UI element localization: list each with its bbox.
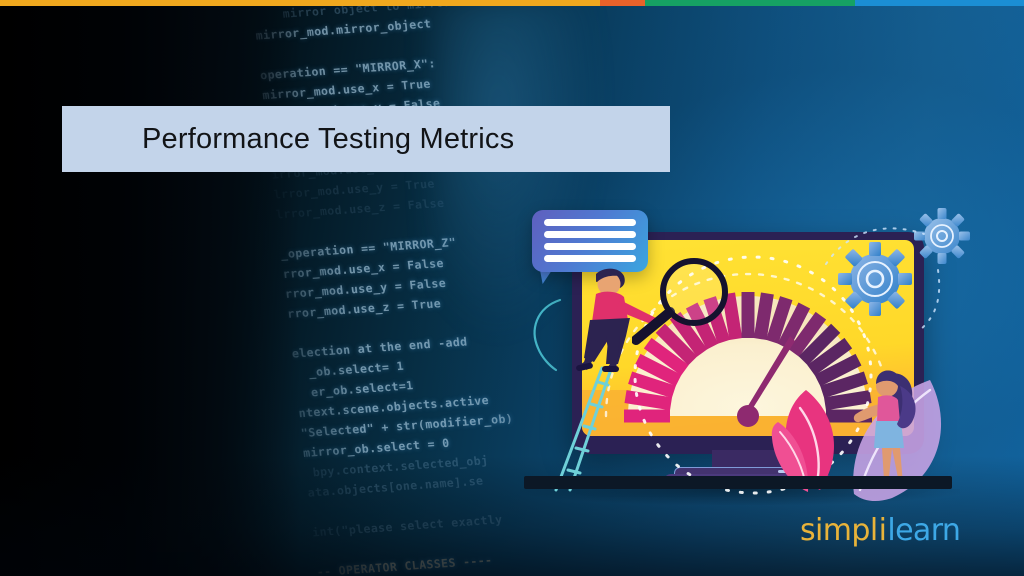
logo-part-one: simpl [800, 513, 878, 548]
dotted-connector [816, 220, 956, 340]
accent-segment-blue [855, 0, 1024, 6]
simplilearn-logo: simpl i learn [800, 512, 948, 548]
ladder [546, 366, 612, 492]
woman-standing-figure [850, 364, 934, 494]
logo-separator: i [879, 513, 887, 548]
accent-segment-green [645, 0, 855, 6]
decor-swirl-icon [526, 296, 566, 372]
page-title: Performance Testing Metrics [142, 123, 514, 156]
card-line-1 [544, 219, 636, 226]
slide-canvas: mirror object to mirror mirror_mod.mirro… [0, 0, 1024, 576]
performance-testing-illustration [516, 212, 986, 512]
top-accent-bar [0, 0, 1024, 6]
list-card [532, 210, 648, 272]
magnifying-glass-icon [632, 256, 734, 356]
card-tail [540, 270, 552, 284]
card-line-3 [544, 243, 636, 250]
card-line-4 [544, 255, 636, 262]
accent-segment-orange [600, 0, 645, 6]
title-banner: Performance Testing Metrics [62, 106, 670, 172]
ground-bar [524, 476, 952, 489]
logo-part-two: learn [887, 513, 960, 548]
card-line-2 [544, 231, 636, 238]
accent-segment-yellow [0, 0, 600, 6]
